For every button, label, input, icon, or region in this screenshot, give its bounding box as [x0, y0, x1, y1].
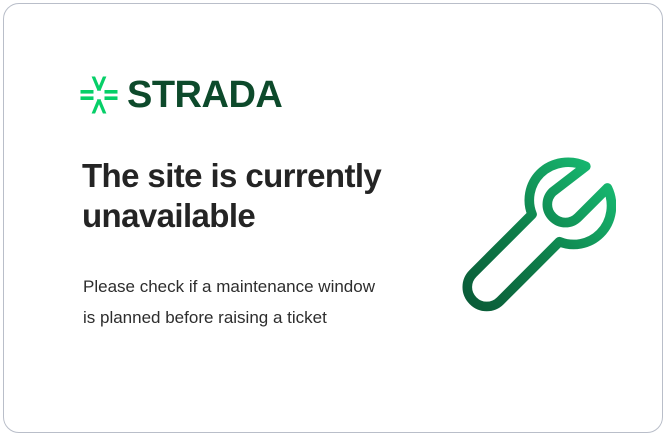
brand-lockup: STRADA: [80, 72, 282, 118]
brand-wordmark: STRADA: [127, 76, 282, 114]
status-card: STRADA The site is currently unavailable…: [3, 3, 663, 433]
status-page-screen: STRADA The site is currently unavailable…: [0, 0, 666, 436]
page-description: Please check if a maintenance window is …: [83, 271, 383, 333]
wrench-icon: [456, 154, 616, 316]
page-title: The site is currently unavailable: [82, 156, 412, 236]
asterisk-starburst-icon: [80, 76, 118, 114]
